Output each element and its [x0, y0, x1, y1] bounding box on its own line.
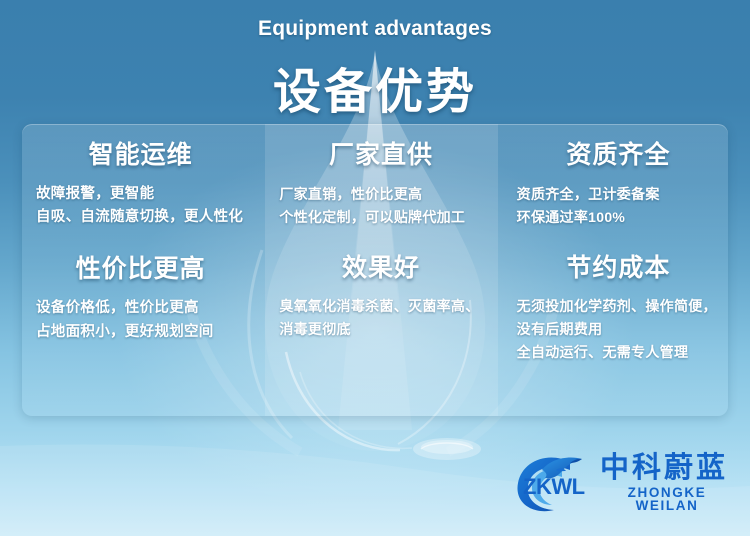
advantage-line: 资质齐全，卫计委备案: [517, 183, 720, 206]
equipment-advantages-poster: Equipment advantages 设备优势 智能运维 故障报警，更智能 …: [0, 0, 750, 536]
logo-name-english: ZHONGKE WEILAN: [600, 486, 734, 513]
advantage-title: 厂家直供: [279, 142, 482, 170]
advantage-block: 节约成本 无须投加化学药剂、操作简便， 没有后期费用 全自动运行、无需专人管理: [517, 255, 720, 365]
advantage-line: 环保通过率100%: [517, 206, 720, 229]
logo-wordmark: 中科蔚蓝 ZHONGKE WEILAN: [600, 454, 734, 513]
company-logo: ZKWL 中科蔚蓝 ZHONGKE WEILAN: [512, 452, 734, 514]
advantage-line: 设备价格低，性价比更高: [36, 297, 245, 321]
advantages-column-1: 智能运维 故障报警，更智能 自吸、自流随意切换，更人性化 性价比更高 设备价格低…: [22, 124, 257, 416]
advantage-lines: 臭氧氧化消毒杀菌、灭菌率高、 消毒更彻底: [279, 295, 482, 341]
advantage-line: 自吸、自流随意切换，更人性化: [36, 206, 245, 230]
advantage-block: 资质齐全 资质齐全，卫计委备案 环保通过率100%: [517, 142, 720, 229]
advantages-column-3: 资质齐全 资质齐全，卫计委备案 环保通过率100% 节约成本 无须投加化学药剂、…: [493, 124, 728, 416]
advantage-block: 智能运维 故障报警，更智能 自吸、自流随意切换，更人性化: [36, 142, 245, 230]
advantage-line: 个性化定制，可以贴牌代加工: [279, 206, 482, 229]
advantage-title: 效果好: [279, 255, 482, 283]
advantage-line: 消毒更彻底: [279, 318, 482, 341]
advantage-block: 效果好 臭氧氧化消毒杀菌、灭菌率高、 消毒更彻底: [279, 255, 482, 342]
advantage-line: 占地面积小，更好规划空间: [36, 321, 245, 345]
advantage-lines: 无须投加化学药剂、操作简便， 没有后期费用 全自动运行、无需专人管理: [517, 295, 720, 364]
advantages-panel: 智能运维 故障报警，更智能 自吸、自流随意切换，更人性化 性价比更高 设备价格低…: [22, 124, 728, 416]
logo-abbreviation: ZKWL: [523, 476, 585, 498]
advantage-title: 资质齐全: [517, 142, 720, 170]
advantage-line: 没有后期费用: [517, 318, 720, 341]
advantage-line: 故障报警，更智能: [36, 183, 245, 207]
advantage-block: 厂家直供 厂家直销，性价比更高 个性化定制，可以贴牌代加工: [279, 142, 482, 229]
advantage-lines: 厂家直销，性价比更高 个性化定制，可以贴牌代加工: [279, 183, 482, 229]
advantage-lines: 资质齐全，卫计委备案 环保通过率100%: [517, 183, 720, 229]
advantage-title: 性价比更高: [36, 256, 245, 284]
page-title-english: Equipment advantages: [0, 17, 750, 41]
advantage-line: 无须投加化学药剂、操作简便，: [517, 295, 720, 318]
advantage-line: 全自动运行、无需专人管理: [517, 341, 720, 364]
dolphin-swoosh-icon: ZKWL: [512, 453, 598, 513]
advantage-lines: 设备价格低，性价比更高 占地面积小，更好规划空间: [36, 297, 245, 345]
advantage-block: 性价比更高 设备价格低，性价比更高 占地面积小，更好规划空间: [36, 256, 245, 344]
advantage-title: 智能运维: [36, 142, 245, 170]
advantages-columns: 智能运维 故障报警，更智能 自吸、自流随意切换，更人性化 性价比更高 设备价格低…: [22, 124, 728, 416]
advantages-column-2: 厂家直供 厂家直销，性价比更高 个性化定制，可以贴牌代加工 效果好 臭氧氧化消毒…: [257, 124, 492, 416]
advantage-line: 臭氧氧化消毒杀菌、灭菌率高、: [279, 295, 482, 318]
advantage-title: 节约成本: [517, 255, 720, 283]
logo-name-chinese: 中科蔚蓝: [600, 454, 734, 483]
page-title-chinese: 设备优势: [0, 52, 750, 122]
advantage-lines: 故障报警，更智能 自吸、自流随意切换，更人性化: [36, 183, 245, 231]
advantage-line: 厂家直销，性价比更高: [279, 183, 482, 206]
